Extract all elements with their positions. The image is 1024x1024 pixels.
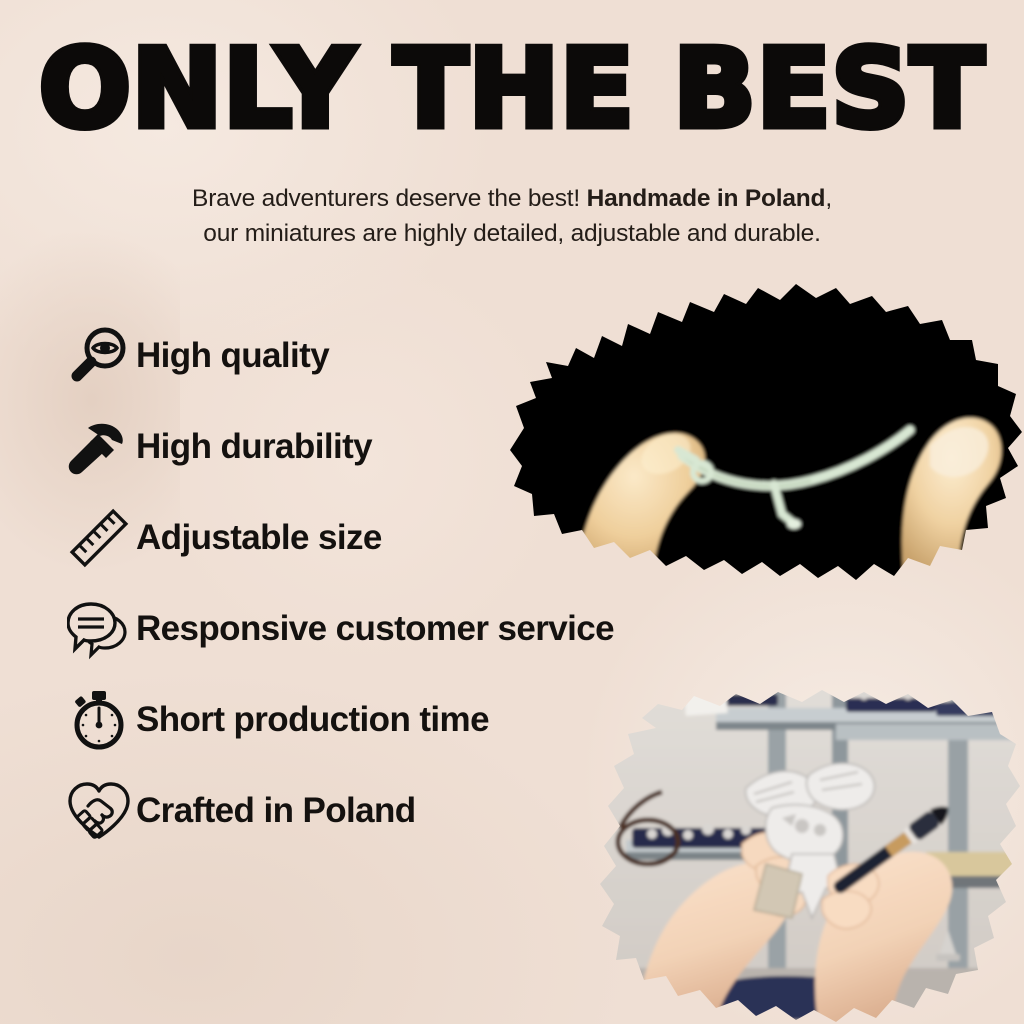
subtitle: Brave adventurers deserve the best! Hand… — [62, 182, 962, 252]
promo-poster: ONLY THE BEST Brave adventurers deserve … — [0, 0, 1024, 1024]
speech-bubbles-icon — [62, 594, 136, 664]
magnifier-eye-icon — [62, 321, 136, 391]
feature-label: Short production time — [136, 700, 489, 740]
feature-item-adjustable-size: Adjustable size — [62, 492, 762, 583]
page-title: ONLY THE BEST — [0, 36, 1024, 144]
feature-label: High quality — [136, 336, 329, 376]
stopwatch-icon — [62, 685, 136, 755]
subtitle-comma: , — [825, 185, 832, 212]
hammer-icon — [62, 412, 136, 482]
subtitle-line2: our miniatures are highly detailed, adju… — [203, 220, 820, 247]
feature-item-responsive-customer-service: Responsive customer service — [62, 583, 762, 674]
subtitle-lead: Brave adventurers deserve the best! — [192, 185, 580, 212]
feature-item-high-durability: High durability — [62, 401, 762, 492]
feature-label: Responsive customer service — [136, 609, 614, 649]
feature-label: High durability — [136, 427, 372, 467]
subtitle-emphasis: Handmade in Poland — [587, 185, 826, 212]
feature-item-short-production-time: Short production time — [62, 674, 762, 765]
ruler-icon — [62, 503, 136, 573]
heart-handshake-icon — [62, 776, 136, 846]
feature-label: Adjustable size — [136, 518, 382, 558]
feature-label: Crafted in Poland — [136, 791, 416, 831]
feature-item-high-quality: High quality — [62, 310, 762, 401]
feature-list: High quality High durability — [62, 310, 762, 856]
feature-item-crafted-in-poland: Crafted in Poland — [62, 765, 762, 856]
